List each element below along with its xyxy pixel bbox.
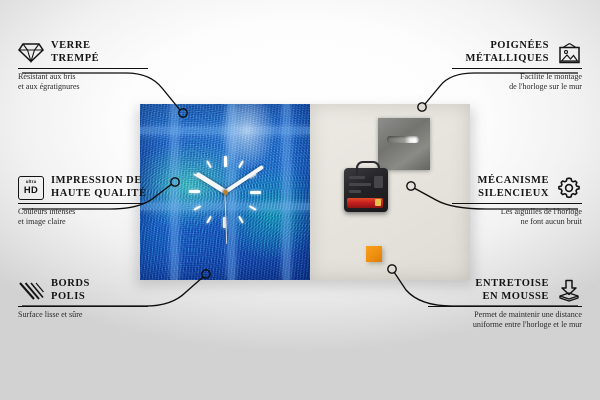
clock-front-face: [140, 104, 310, 280]
callout-mecanisme-silencieux: MÉCANISME SILENCIEUX Les aiguilles de l'…: [452, 175, 582, 227]
ultra-hd-icon: ultra HD: [18, 176, 44, 200]
movement-detail: [374, 176, 383, 188]
callout-title: IMPRESSION DE HAUTE QUALITÉ: [51, 175, 147, 200]
callout-rule: [18, 306, 148, 307]
callout-rule: [428, 306, 582, 307]
callout-verre-trempe: VERRE TREMPÉ Résistant aux bris et aux é…: [18, 40, 148, 92]
movement-handle: [356, 161, 380, 175]
callout-entretoise-en-mousse: ENTRETOISE EN MOUSSE Permet de maintenir…: [428, 278, 582, 330]
callout-subtitle: Permet de maintenir une distance uniform…: [428, 310, 582, 330]
diagonal-lines-icon: [18, 279, 44, 303]
callout-rule: [452, 68, 582, 69]
highlight-glow: [218, 104, 276, 171]
callout-title: BORDS POLIS: [51, 278, 90, 303]
callout-rule: [452, 203, 582, 204]
battery-terminal: [375, 199, 381, 206]
callout-subtitle: Couleurs intenses et image claire: [18, 207, 153, 227]
movement-detail: [349, 183, 371, 186]
clock-movement-box: [344, 168, 388, 212]
callout-title: ENTRETOISE EN MOUSSE: [475, 278, 549, 303]
callout-subtitle: Surface lisse et sûre: [18, 310, 148, 320]
movement-detail: [349, 190, 361, 193]
callout-subtitle: Résistant aux bris et aux égratignures: [18, 72, 148, 92]
metal-hanger-plate: [378, 118, 430, 170]
callout-poignees-metalliques: POIGNÉES MÉTALLIQUES Facilite le montage…: [452, 40, 582, 92]
callout-bords-polis: BORDS POLIS Surface lisse et sûre: [18, 278, 148, 320]
arrow-down-pad-icon: [556, 279, 582, 303]
callout-impression-haute-qualite: ultra HD IMPRESSION DE HAUTE QUALITÉ Cou…: [18, 175, 153, 227]
callout-header: MÉCANISME SILENCIEUX: [452, 175, 582, 200]
infographic-canvas: VERRE TREMPÉ Résistant aux bris et aux é…: [0, 0, 600, 400]
callout-title: POIGNÉES MÉTALLIQUES: [466, 40, 549, 65]
callout-header: ultra HD IMPRESSION DE HAUTE QUALITÉ: [18, 175, 153, 200]
callout-rule: [18, 203, 145, 204]
product-image: [140, 104, 470, 280]
movement-detail: [349, 176, 365, 179]
callout-header: POIGNÉES MÉTALLIQUES: [452, 40, 582, 65]
hanger-slot: [387, 136, 419, 143]
callout-rule: [18, 68, 148, 69]
picture-frame-icon: [556, 41, 582, 65]
callout-title: MÉCANISME SILENCIEUX: [478, 175, 549, 200]
gear-icon: [556, 176, 582, 200]
callout-header: BORDS POLIS: [18, 278, 148, 303]
foam-spacer: [366, 246, 382, 262]
clock-center-cap: [223, 190, 228, 195]
ultra-hd-icon-bottom-label: HD: [24, 185, 38, 194]
callout-subtitle: Facilite le montage de l'horloge sur le …: [452, 72, 582, 92]
callout-header: ENTRETOISE EN MOUSSE: [428, 278, 582, 303]
clock-back-panel: [310, 104, 470, 280]
diamond-icon: [18, 41, 44, 65]
battery: [347, 198, 383, 208]
callout-title: VERRE TREMPÉ: [51, 40, 99, 65]
callout-header: VERRE TREMPÉ: [18, 40, 148, 65]
callout-subtitle: Les aiguilles de l'horloge ne font aucun…: [452, 207, 582, 227]
